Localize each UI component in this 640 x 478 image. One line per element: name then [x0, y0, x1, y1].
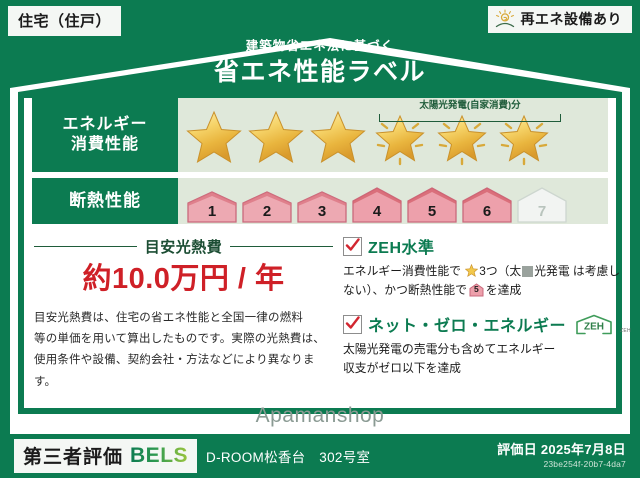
insulation-level-5: 5	[406, 185, 458, 223]
insulation-level-4: 4	[351, 185, 403, 223]
criterion-zeh-standard: ZEH水準 エネルギー消費性能で 3つ（太光発電 は考慮しない）、かつ断熱性能で	[343, 234, 631, 300]
label-footer: 第三者評価 BELS D-ROOM松香台 302号室 評価日 2025年7月8日…	[0, 434, 640, 478]
energy-label-line2: 消費性能	[71, 135, 139, 155]
solar-self-consumption-bracket: 太陽光発電(自家消費)分	[375, 100, 565, 122]
zeh-body-part-1: エネルギー消費性能で	[343, 264, 461, 278]
label-content-card: エネルギー 消費性能	[24, 98, 616, 408]
cost-rule-left	[34, 246, 137, 248]
energy-performance-label: エネルギー 消費性能	[32, 98, 178, 172]
inline-house-level-icon: 5	[469, 283, 484, 297]
insulation-label-text: 断熱性能	[69, 190, 141, 211]
insulation-level-1: 1	[186, 189, 238, 223]
insulation-level-4-number: 4	[351, 203, 403, 220]
bels-badge-jp: 第三者評価	[23, 442, 123, 469]
energy-label-line1: エネルギー	[62, 115, 147, 135]
insulation-level-7-number: 7	[516, 203, 568, 220]
renewable-equipment-badge: 再エネ設備あり	[488, 6, 633, 33]
inline-sun-icon	[522, 266, 533, 277]
cost-note-line-3: 使用条件や設備、契約会社・方法などにより異なります。	[34, 350, 333, 393]
insulation-scale: 1 2	[178, 179, 568, 223]
criterion-zeh-body: エネルギー消費性能で 3つ（太光発電 は考慮しない）、かつ断熱性能で 5 を達成	[343, 262, 631, 300]
energy-performance-row: エネルギー 消費性能	[32, 98, 608, 172]
bels-badge-en: BELS	[130, 444, 188, 468]
header-subtitle: 建築物省エネ法に基づく	[0, 40, 640, 54]
nze-body-line-1: 太陽光発電の売電分も含めてエネルギー	[343, 340, 631, 359]
zeh-logo-trademark: ZEH	[620, 328, 631, 334]
bels-badge: 第三者評価 BELS	[14, 439, 197, 473]
record-id: 23be254f-20b7-4da7	[497, 460, 626, 470]
sun-icon	[494, 9, 516, 29]
label-header: 建築物省エネ法に基づく 省エネ性能ラベル	[0, 40, 640, 87]
star-2	[246, 108, 306, 166]
energy-performance-value: 太陽光発電(自家消費)分	[178, 98, 608, 172]
nze-body-line-2: 収支がゼロ以下を達成	[343, 359, 631, 378]
insulation-level-6-number: 6	[461, 203, 513, 220]
utility-cost-column: 目安光熱費 約10.0万円 / 年 目安光熱費は、住宅の省エネ性能と全国一律の燃…	[34, 234, 339, 402]
criterion-zeh-header: ZEH水準	[343, 234, 631, 258]
insulation-level-5-number: 5	[406, 203, 458, 220]
evaluation-date: 評価日 2025年7月8日	[497, 443, 626, 458]
cost-heading-text: 目安光熱費	[145, 236, 223, 257]
insulation-level-3-number: 3	[296, 203, 348, 220]
insulation-level-6: 6	[461, 185, 513, 223]
zeh-logo-icon: ZEH	[574, 314, 614, 335]
checkbox-net-zero-energy	[343, 315, 362, 334]
solar-bracket-label: 太陽光発電(自家消費)分	[375, 97, 565, 111]
zeh-body-part-2: 3つ（太	[479, 264, 521, 278]
zeh-body-part-5: を達成	[486, 283, 521, 297]
cost-note-line-1: 目安光熱費は、住宅の省エネ性能と全国一律の燃料	[34, 308, 333, 329]
utility-cost-heading: 目安光熱費	[34, 236, 333, 257]
inline-star-icon	[465, 264, 478, 277]
svg-text:ZEH: ZEH	[584, 321, 604, 332]
label-lower-section: 目安光熱費 約10.0万円 / 年 目安光熱費は、住宅の省エネ性能と全国一律の燃…	[34, 234, 606, 402]
zeh-body-part-3: 光発電	[534, 264, 569, 278]
checkbox-zeh-standard	[343, 237, 362, 256]
criterion-nze-header: ネット・ゼロ・エネルギー ZEH ZEH	[343, 312, 631, 336]
criterion-zeh-title: ZEH水準	[368, 234, 435, 258]
star-1	[184, 108, 244, 166]
renewable-badge-label: 再エネ設備あり	[521, 9, 623, 29]
footer-meta: 評価日 2025年7月8日 23be254f-20b7-4da7	[497, 443, 626, 470]
insulation-level-2-number: 2	[241, 203, 293, 220]
cost-rule-right	[230, 246, 333, 248]
criteria-column: ZEH水準 エネルギー消費性能で 3つ（太光発電 は考慮しない）、かつ断熱性能で	[339, 234, 631, 402]
category-tag: 住宅（住戸）	[8, 6, 121, 36]
bels-energy-label: 住宅（住戸） 再エネ設備あり 建築物省エネ法に基づく 省エネ性能ラベル	[0, 0, 640, 478]
insulation-level-7: 7	[516, 185, 568, 223]
star-3	[308, 108, 368, 166]
insulation-level-1-number: 1	[186, 203, 238, 220]
insulation-performance-label: 断熱性能	[32, 178, 178, 224]
utility-cost-note: 目安光熱費は、住宅の省エネ性能と全国一律の燃料 等の単価を用いて算出したものです…	[34, 308, 333, 393]
utility-cost-amount: 約10.0万円 / 年	[34, 264, 333, 296]
insulation-performance-value: 1 2	[178, 178, 608, 224]
insulation-performance-row: 断熱性能 1	[32, 178, 608, 224]
solar-bracket-line	[379, 114, 561, 122]
header-title: 省エネ性能ラベル	[0, 57, 640, 87]
insulation-level-2: 2	[241, 189, 293, 223]
criterion-net-zero-energy: ネット・ゼロ・エネルギー ZEH ZEH 太陽光発電の売電分も含めてエネルギー	[343, 312, 631, 378]
criterion-nze-body: 太陽光発電の売電分も含めてエネルギー 収支がゼロ以下を達成	[343, 340, 631, 378]
insulation-level-3: 3	[296, 189, 348, 223]
criterion-nze-title: ネット・ゼロ・エネルギー	[368, 312, 566, 336]
inline-house-level-number: 5	[469, 283, 484, 297]
property-name: D-ROOM松香台 302号室	[206, 446, 370, 466]
cost-note-line-2: 等の単価を用いて算出したものです。実際の光熱費は、	[34, 329, 333, 350]
